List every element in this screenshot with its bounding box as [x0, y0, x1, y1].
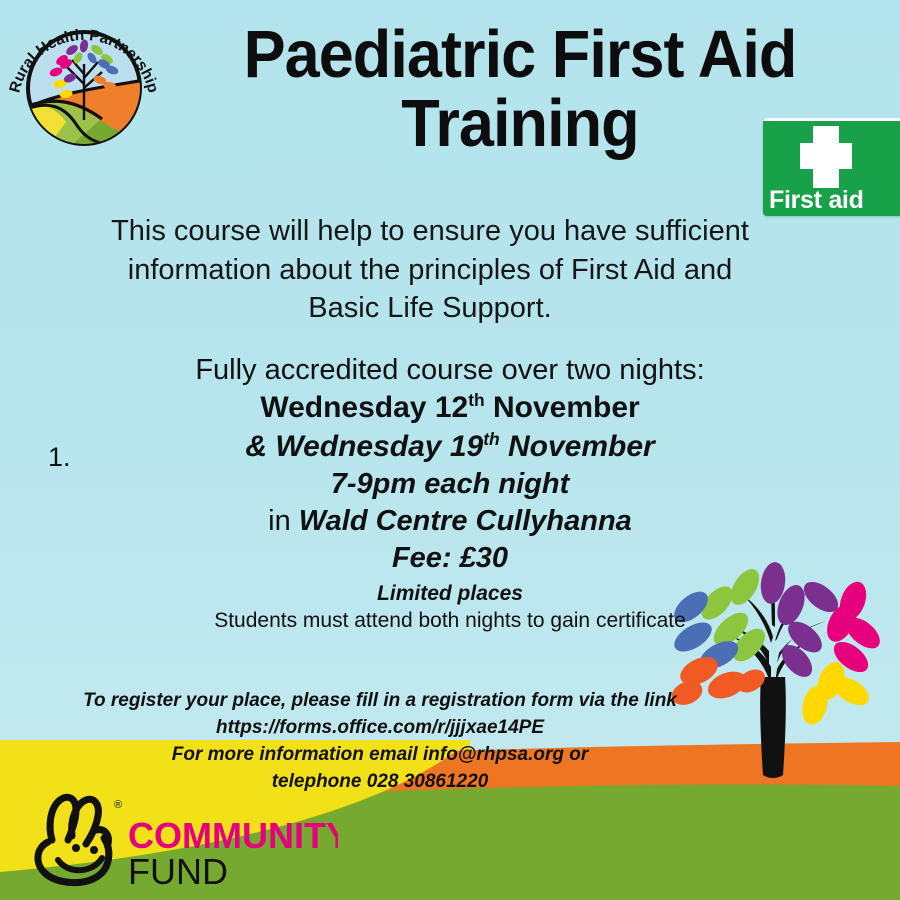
title-line-2: Training [191, 89, 849, 158]
date1-month: November [485, 391, 640, 424]
date2-ordinal: th [483, 429, 499, 449]
limited-places-note: Limited places [0, 581, 900, 608]
title-line-1: Paediatric First Aid [191, 20, 849, 89]
first-aid-sign-label: First aid [769, 186, 864, 215]
register-instruction: To register your place, please fill in a… [50, 688, 710, 715]
course-date-1: Wednesday 12th November [0, 389, 900, 427]
venue-prefix: in [268, 505, 299, 537]
date1-ordinal: th [468, 390, 484, 410]
date2-month: November [500, 430, 655, 463]
intro-line-1: This course will help to ensure you have… [45, 212, 815, 251]
poster-canvas: Rural Health Partnership First aid [0, 0, 900, 900]
smile-icon [58, 858, 102, 870]
venue-name: Wald Centre Cullyhanna [299, 505, 632, 537]
course-fee: Fee: £30 [0, 540, 900, 577]
course-venue: in Wald Centre Cullyhanna [0, 503, 900, 540]
course-time: 7-9pm each night [0, 466, 900, 503]
date1-day: Wednesday 12 [260, 391, 468, 424]
intro-line-3: Basic Life Support. [45, 289, 815, 328]
page-title: Paediatric First Aid Training [191, 20, 849, 158]
intro-line-2: information about the principles of Firs… [45, 251, 815, 290]
course-details: Fully accredited course over two nights:… [0, 352, 900, 635]
date2-day: & Wednesday 19 [245, 430, 483, 463]
intro-paragraph: This course will help to ensure you have… [45, 212, 815, 328]
community-fund-logo: ® COMMUNITY FUND [18, 786, 338, 892]
registration-info: To register your place, please fill in a… [50, 688, 710, 796]
contact-email-line: For more information email info@rhpsa.or… [50, 742, 710, 769]
rural-health-partnership-logo: Rural Health Partnership [4, 2, 164, 162]
community-fund-name-line1: COMMUNITY [128, 815, 338, 856]
accredited-line: Fully accredited course over two nights: [0, 352, 900, 389]
certificate-note: Students must attend both nights to gain… [0, 608, 900, 635]
registration-form-url[interactable]: https://forms.office.com/r/jjjxae14PE [50, 715, 710, 742]
course-date-2: & Wednesday 19th November [0, 428, 900, 466]
community-fund-name-line2: FUND [128, 851, 228, 892]
registered-mark: ® [114, 799, 122, 811]
